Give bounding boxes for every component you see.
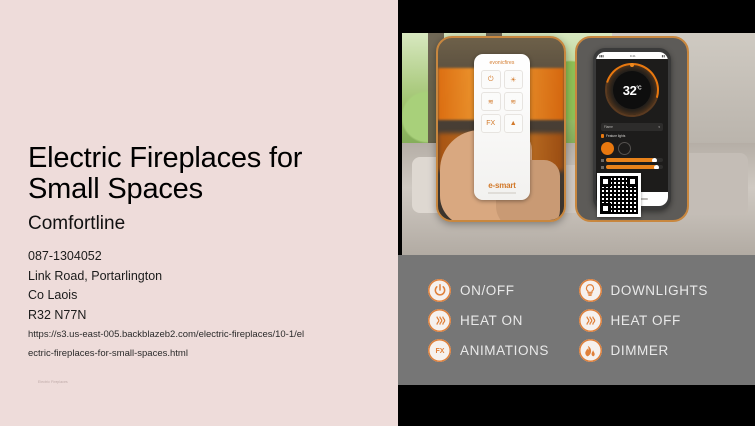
feature-label: ANIMATIONS — [460, 343, 549, 358]
product-photo: evonicfires ⏻ ☀ ≋ ≋ FX ▲ e-smart — [402, 33, 755, 255]
remote-dimmer-button[interactable]: ▲ — [504, 114, 524, 133]
top-letterbox-bar — [398, 0, 755, 33]
mode-select[interactable]: Flame ▾ — [601, 123, 663, 131]
watermark-label: Electric Fireplaces — [38, 380, 68, 385]
left-info-panel: Electric Fireplaces for Small Spaces Com… — [0, 0, 398, 426]
brightness-slider[interactable] — [601, 158, 663, 162]
bottom-letterbox-bar — [398, 385, 755, 426]
slider-fill — [606, 158, 653, 162]
qr-code[interactable] — [597, 173, 641, 217]
street-address: Link Road, Portarlington — [28, 267, 378, 287]
temperature-dial[interactable]: 32°C — [596, 59, 668, 121]
heat-slider[interactable] — [601, 165, 663, 169]
postcode: R32 N77N — [28, 306, 378, 326]
feature-grid: ON/OFF DOWNLIGHTS — [398, 255, 755, 385]
remote-sub-brand-label: e-smart — [474, 181, 530, 190]
remote-downlights-button[interactable]: ☀ — [504, 70, 524, 89]
lights-icon — [601, 134, 604, 138]
remote-divider — [488, 192, 516, 194]
feature-heat-off[interactable]: HEAT OFF — [579, 309, 730, 332]
feature-on-off[interactable]: ON/OFF — [428, 279, 579, 302]
slider-handle[interactable] — [654, 165, 659, 169]
flame-toggle-on[interactable] — [601, 142, 614, 155]
remote-power-button[interactable]: ⏻ — [481, 70, 501, 89]
source-url-line-1[interactable]: https://s3.us-east-005.backblazeb2.com/e… — [28, 325, 378, 344]
remote-control-photo: evonicfires ⏻ ☀ ≋ ≋ FX ▲ e-smart — [436, 36, 566, 222]
company-name: Comfortline — [28, 213, 378, 235]
bulb-icon — [579, 279, 602, 302]
remote-button-grid: ⏻ ☀ ≋ ≋ FX ▲ — [481, 70, 523, 133]
status-time: 9:41 — [630, 54, 636, 58]
slider-track[interactable] — [606, 158, 663, 162]
slider-icon — [601, 166, 604, 169]
fan-toggle-off[interactable] — [618, 142, 631, 155]
slider-fill — [606, 165, 655, 169]
feature-label: HEAT ON — [460, 313, 523, 328]
power-icon — [428, 279, 451, 302]
phone-number: 087-1304052 — [28, 247, 378, 267]
dial-handle[interactable] — [630, 63, 634, 67]
right-media-panel: evonicfires ⏻ ☀ ≋ ≋ FX ▲ e-smart — [398, 0, 755, 426]
poster-canvas: Electric Fireplaces for Small Spaces Com… — [0, 0, 755, 426]
flame-icon — [579, 339, 602, 362]
phone-status-bar: ▮▮▮ 9:41 ▮▮ — [596, 52, 668, 59]
fx-icon: FX — [428, 339, 451, 362]
qr-finder-top-right — [627, 176, 638, 187]
source-url-line-2[interactable]: ectric-fireplaces-for-small-spaces.html — [28, 344, 378, 363]
remote-heat-on-button[interactable]: ≋ — [481, 92, 501, 111]
remote-device: evonicfires ⏻ ☀ ≋ ≋ FX ▲ e-smart — [474, 54, 530, 200]
qr-code-pattern — [600, 176, 638, 214]
feature-label: DOWNLIGHTS — [611, 283, 709, 298]
feature-label: ON/OFF — [460, 283, 515, 298]
remote-heat-off-button[interactable]: ≋ — [504, 92, 524, 111]
remote-fx-button[interactable]: FX — [481, 114, 501, 133]
chevron-down-icon: ▾ — [658, 125, 660, 129]
slider-handle[interactable] — [652, 158, 657, 162]
slider-track[interactable] — [606, 165, 663, 169]
status-carrier: ▮▮▮ — [599, 54, 604, 58]
heat-icon — [579, 309, 602, 332]
temperature-value: 32°C — [623, 83, 641, 98]
page-title: Electric Fireplaces for Small Spaces — [28, 143, 378, 205]
status-battery: ▮▮ — [662, 54, 665, 58]
qr-finder-bottom-left — [600, 203, 611, 214]
feature-lights-row[interactable]: Feature lights — [601, 134, 663, 138]
remote-brand-label: evonicfires — [474, 60, 530, 66]
feature-heat-on[interactable]: HEAT ON — [428, 309, 579, 332]
feature-animations[interactable]: FX ANIMATIONS — [428, 339, 579, 362]
feature-dimmer[interactable]: DIMMER — [579, 339, 730, 362]
svg-text:FX: FX — [435, 348, 444, 355]
feature-downlights[interactable]: DOWNLIGHTS — [579, 279, 730, 302]
app-quick-buttons — [601, 142, 663, 155]
heat-icon — [428, 309, 451, 332]
listing-details: Electric Fireplaces for Small Spaces Com… — [28, 143, 378, 363]
slider-icon — [601, 159, 604, 162]
qr-finder-top-left — [600, 176, 611, 187]
mode-select-value: Flame — [604, 125, 613, 129]
county: Co Laois — [28, 286, 378, 306]
feature-lights-label: Feature lights — [606, 134, 625, 138]
dial-center: 32°C — [613, 71, 651, 109]
feature-label: HEAT OFF — [611, 313, 681, 328]
feature-label: DIMMER — [611, 343, 669, 358]
